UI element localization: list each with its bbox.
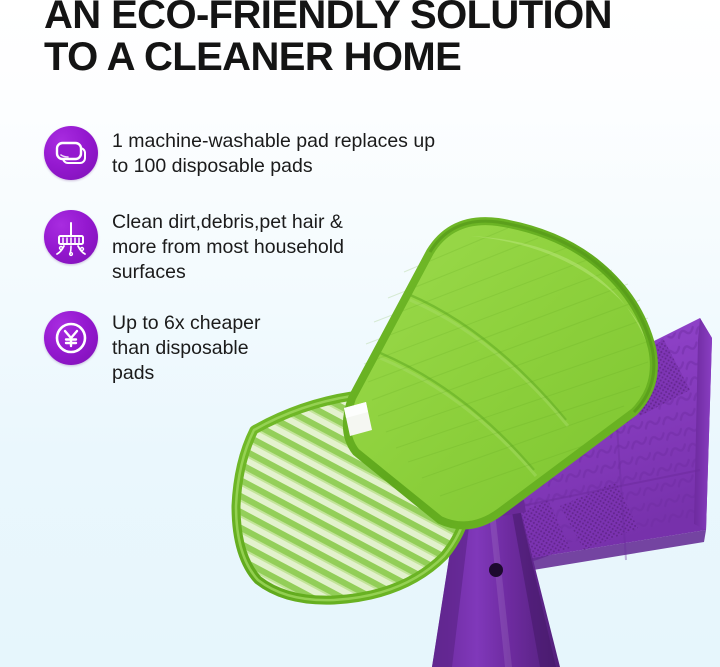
feature-icon-badge bbox=[44, 210, 98, 264]
page-title: AN ECO-FRIENDLY SOLUTION TO A CLEANER HO… bbox=[44, 0, 684, 78]
feature-text: Up to 6x cheaper than disposable pads bbox=[112, 311, 261, 386]
feature-icon-badge bbox=[44, 311, 98, 365]
stacked-pads-icon bbox=[44, 126, 98, 180]
feature-item-washable-pad: 1 machine-washable pad replaces up to 10… bbox=[44, 126, 514, 180]
feature-text: Clean dirt,debris,pet hair & more from m… bbox=[112, 210, 344, 285]
handle-hole bbox=[489, 563, 503, 577]
mop-handle-group bbox=[432, 500, 560, 667]
feature-item-cheaper: Up to 6x cheaper than disposable pads bbox=[44, 311, 514, 386]
feature-text: 1 machine-washable pad replaces up to 10… bbox=[112, 126, 435, 179]
feature-item-clean-surfaces: Clean dirt,debris,pet hair & more from m… bbox=[44, 210, 514, 285]
broom-sweeping-icon bbox=[44, 210, 98, 264]
feature-list: 1 machine-washable pad replaces up to 10… bbox=[44, 126, 514, 410]
infographic-canvas: AN ECO-FRIENDLY SOLUTION TO A CLEANER HO… bbox=[0, 0, 720, 667]
microfiber-underside bbox=[236, 396, 470, 600]
feature-icon-badge bbox=[44, 126, 98, 180]
yen-coin-icon bbox=[44, 311, 98, 365]
